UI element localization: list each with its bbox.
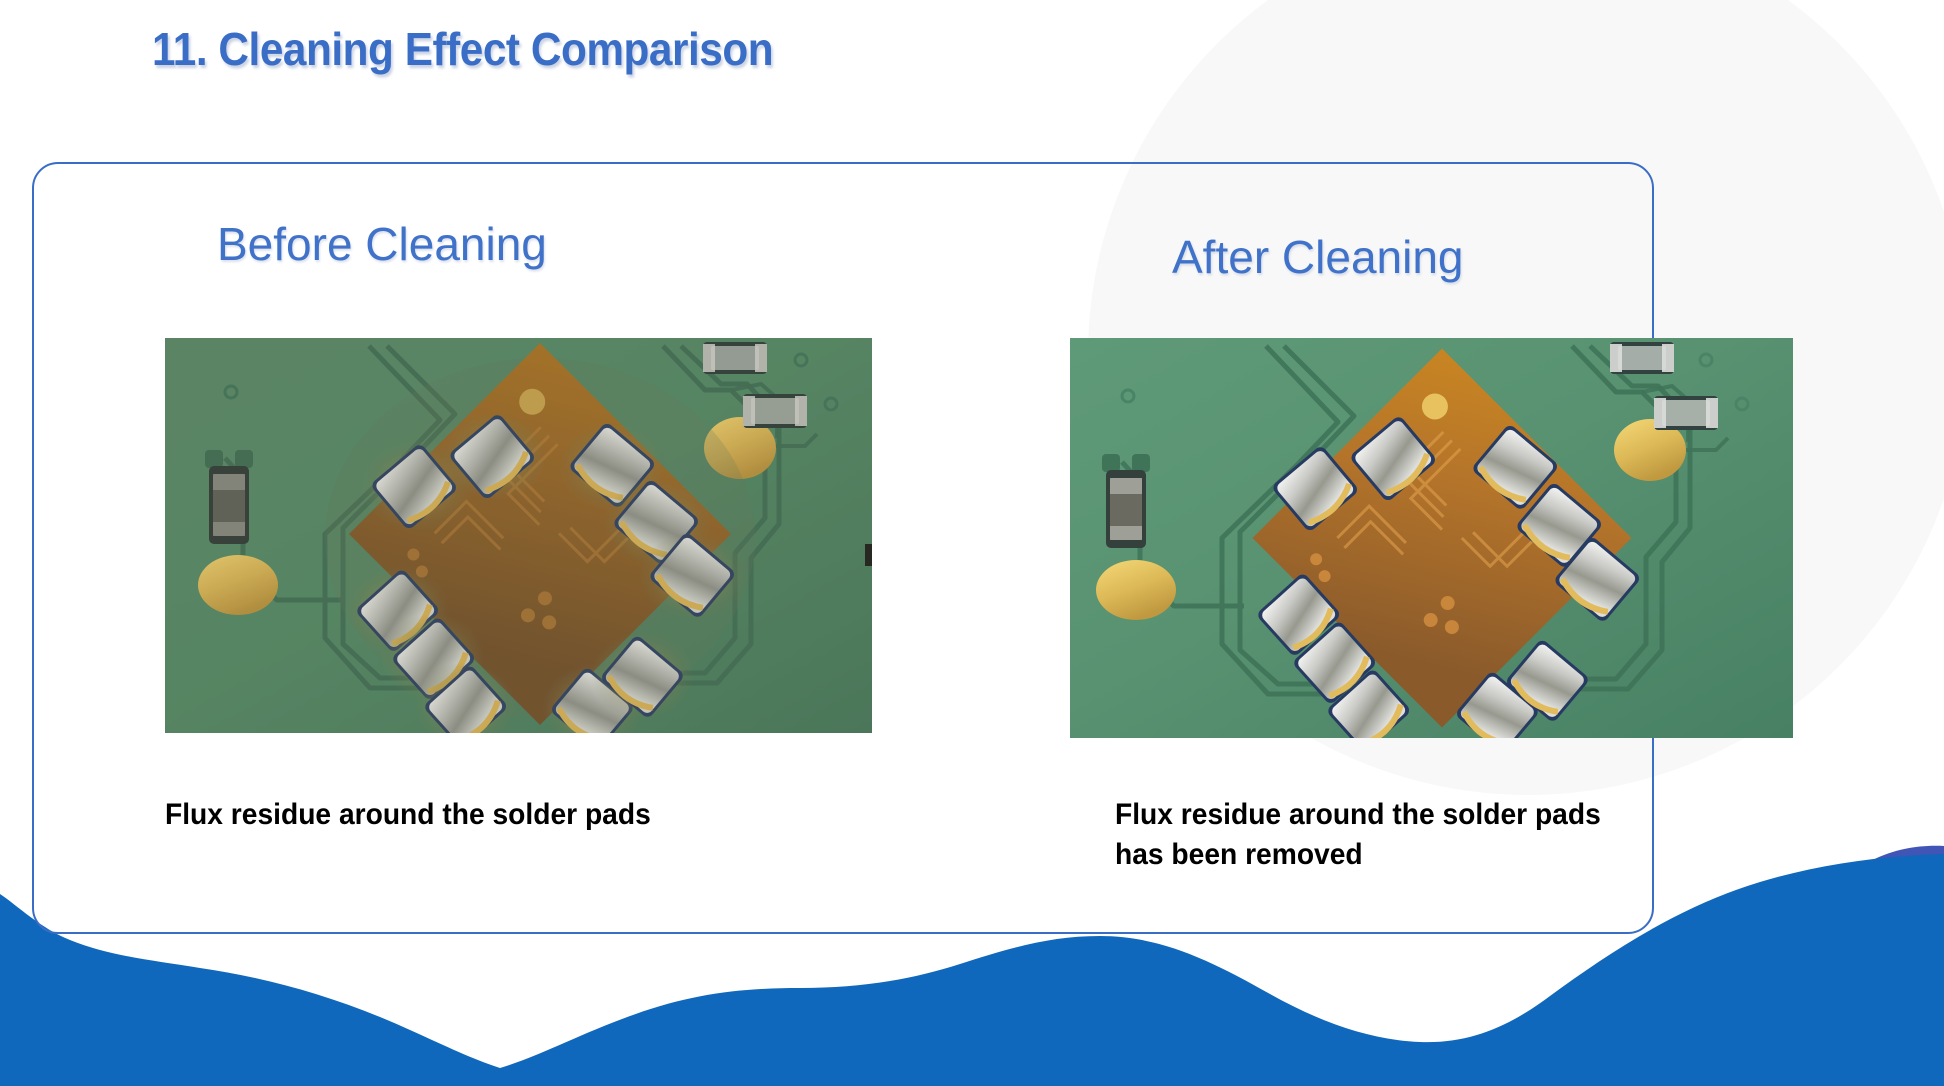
before-cleaning-heading: Before Cleaning	[217, 217, 547, 271]
after-cleaning-heading: After Cleaning	[1172, 230, 1464, 284]
pcb-before-svg	[165, 338, 872, 733]
caption-after-line-2: has been removed	[1115, 835, 1773, 875]
pcb-after-svg	[1070, 338, 1793, 738]
page-title: 11. Cleaning Effect Comparison	[152, 22, 773, 76]
gold-pad	[1096, 560, 1176, 620]
caption-after: Flux residue around the solder pads has …	[1115, 795, 1773, 874]
pcb-image-before	[165, 338, 872, 733]
slide-canvas: 11. Cleaning Effect Comparison Before Cl…	[0, 0, 1944, 1086]
pcb-image-after	[1070, 338, 1793, 738]
smd-chip-top-right	[1610, 342, 1674, 374]
caption-before: Flux residue around the solder pads	[165, 795, 879, 835]
caption-before-line-1: Flux residue around the solder pads	[165, 795, 879, 835]
smd-chip-right	[1654, 396, 1718, 430]
caption-after-line-1: Flux residue around the solder pads	[1115, 795, 1773, 835]
